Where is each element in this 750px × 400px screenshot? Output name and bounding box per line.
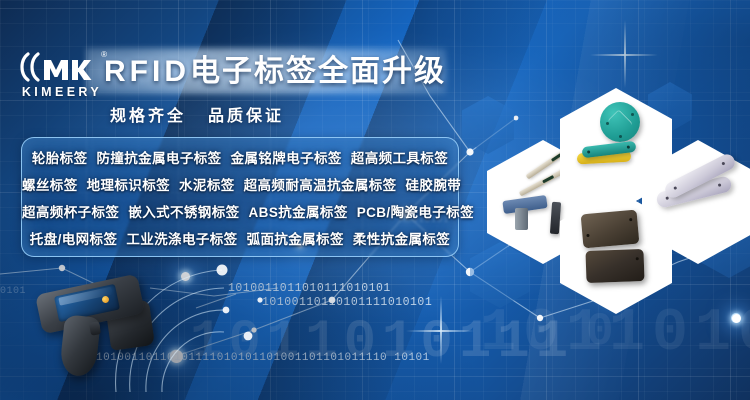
product-row-1: 轮胎标签防撞抗金属电子标签金属铭牌电子标签超高频工具标签	[22, 145, 458, 172]
product-row-4: 托盘/电网标签工业洗涤电子标签弧面抗金属标签柔性抗金属标签	[22, 226, 458, 253]
abs-anti-metal-tag	[585, 249, 644, 283]
product-item[interactable]: ABS抗金属标签	[249, 205, 348, 220]
subtitle-right: 品质保证	[208, 108, 284, 125]
abs-anti-metal-tag	[581, 210, 640, 249]
page-title: RFID电子标签全面升级	[104, 50, 446, 94]
product-item[interactable]: 硅胶腕带	[406, 178, 462, 193]
product-item[interactable]: 金属铭牌电子标签	[231, 151, 342, 166]
product-item[interactable]: 工业洗涤电子标签	[126, 232, 237, 247]
product-item[interactable]: 嵌入式不锈钢标签	[128, 205, 239, 220]
product-item[interactable]: 超高频杯子标签	[22, 205, 119, 220]
screw-shaft	[515, 208, 528, 230]
brand-wordmark: KIMEERY	[14, 85, 110, 99]
subtitle-left: 规格齐全	[110, 108, 186, 125]
product-item[interactable]: 轮胎标签	[32, 151, 88, 166]
product-item[interactable]: 防撞抗金属电子标签	[96, 151, 221, 166]
product-item[interactable]: 柔性抗金属标签	[353, 232, 450, 247]
brand-logo[interactable]: ® KIMEERY	[14, 50, 110, 108]
reader-trigger-button[interactable]	[89, 321, 101, 336]
subtitle: 规格齐全品质保证	[110, 102, 284, 126]
headline-chinese: 电子标签全面升级	[190, 55, 446, 88]
product-item[interactable]: 托盘/电网标签	[30, 232, 118, 247]
product-item[interactable]: 地理标识标签	[87, 178, 170, 193]
rfid-promo-banner: 1011010111 1011010111 101001101101011101…	[0, 0, 750, 400]
binary-line-5: 0101	[0, 286, 26, 297]
kmr-monogram-icon	[14, 50, 110, 84]
product-item[interactable]: 水泥标签	[179, 178, 235, 193]
product-item[interactable]: 超高频耐高温抗金属标签	[244, 178, 397, 193]
handheld-rfid-reader[interactable]	[34, 278, 166, 386]
product-list-panel: 轮胎标签防撞抗金属电子标签金属铭牌电子标签超高频工具标签 螺丝标签地理标识标签水…	[21, 137, 459, 257]
headline-latin: RFID	[104, 55, 190, 88]
abs-anti-metal-tags-hex[interactable]	[560, 190, 672, 314]
product-item[interactable]: 弧面抗金属标签	[247, 232, 344, 247]
product-row-2: 螺丝标签地理标识标签水泥标签超高频耐高温抗金属标签硅胶腕带	[22, 172, 458, 199]
product-item[interactable]: PCB/陶瓷电子标签	[357, 205, 474, 220]
product-item[interactable]: 超高频工具标签	[351, 151, 448, 166]
product-row-3: 超高频杯子标签嵌入式不锈钢标签ABS抗金属标签PCB/陶瓷电子标签	[22, 199, 458, 226]
product-item[interactable]: 螺丝标签	[22, 178, 78, 193]
round-anti-metal-tag	[600, 102, 640, 142]
